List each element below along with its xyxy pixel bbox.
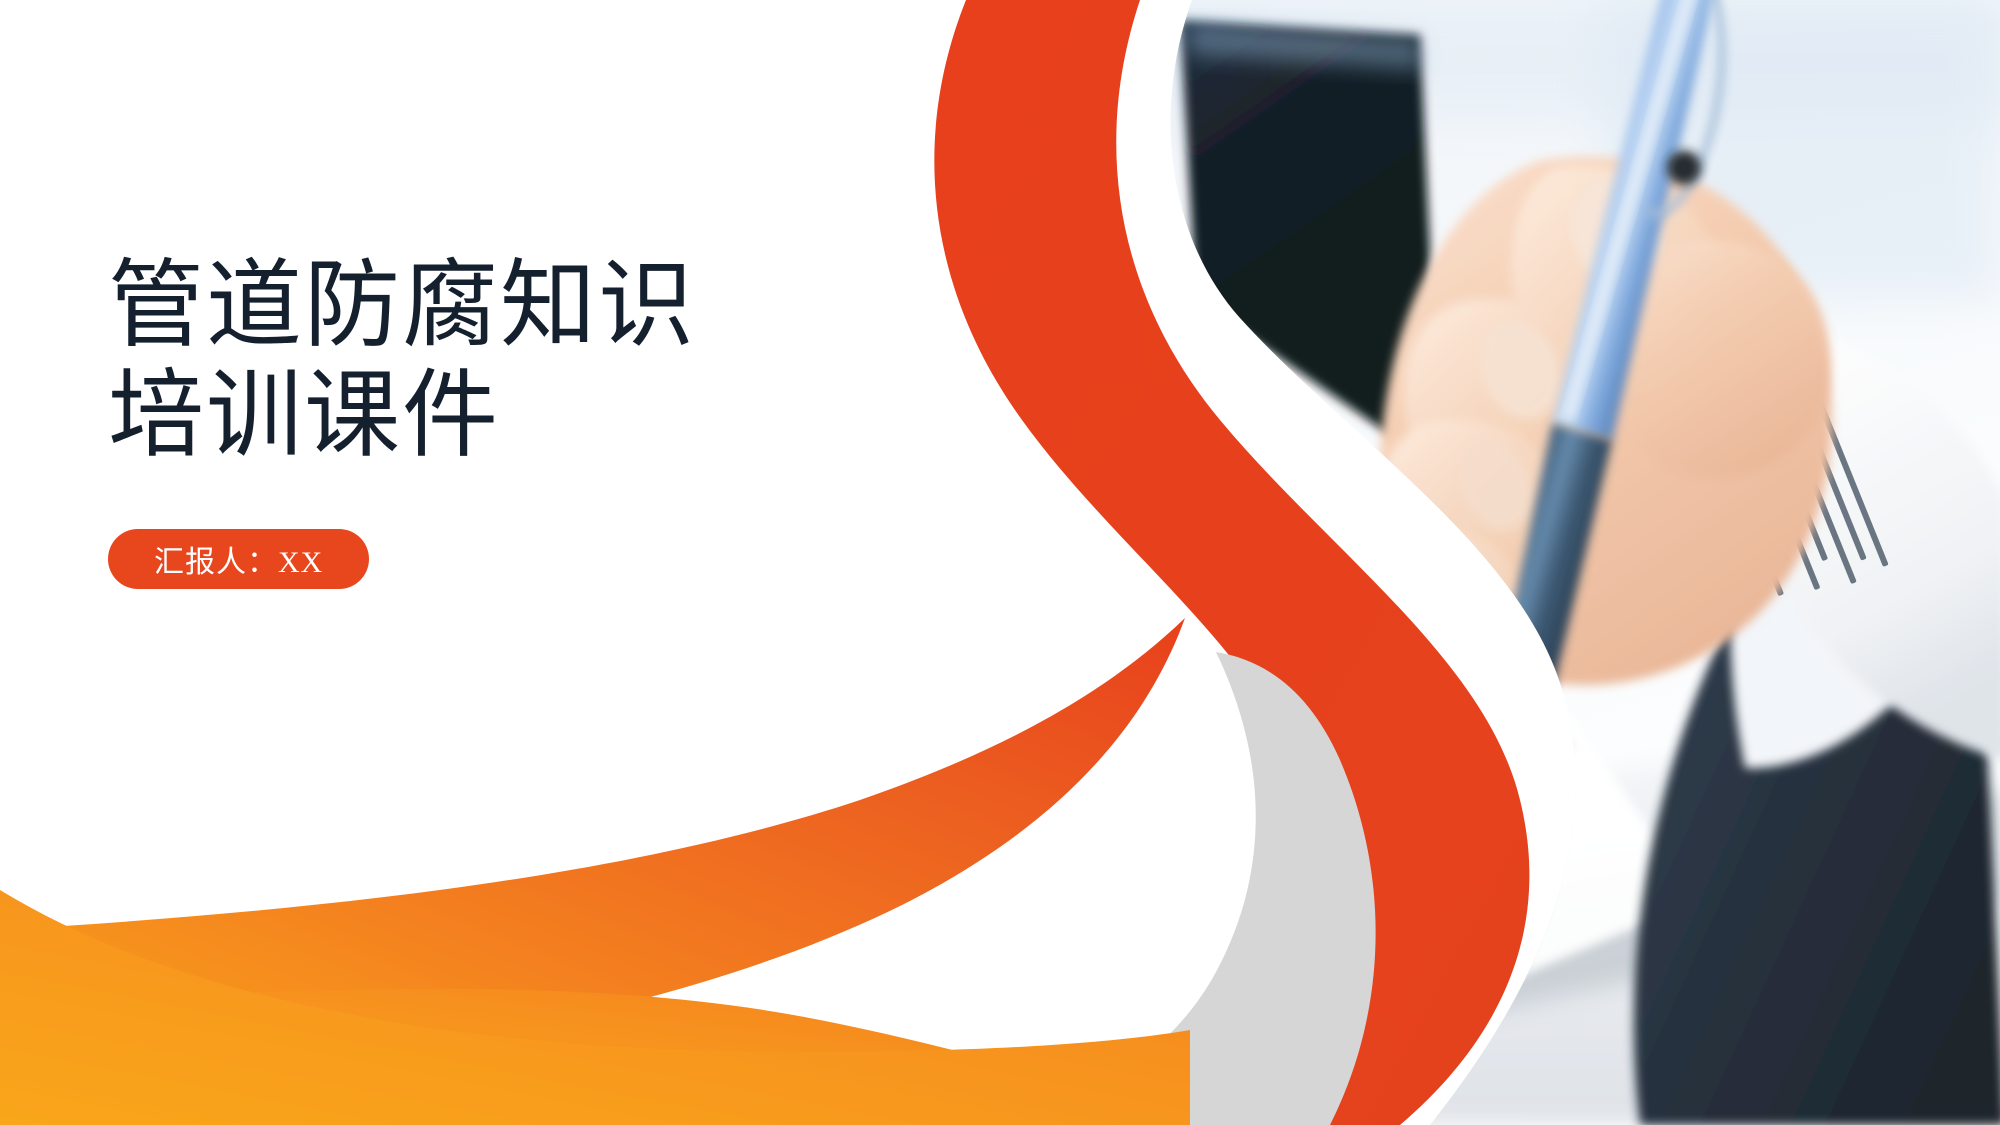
page-title-line-1: 管道防腐知识: [108, 252, 868, 360]
title-block: 管道防腐知识 培训课件 汇报人：XX: [108, 252, 868, 589]
presenter-badge: 汇报人：XX: [108, 529, 369, 589]
page-title-line-2: 培训课件: [108, 362, 868, 470]
title-slide: 管道防腐知识 培训课件 汇报人：XX: [0, 0, 2000, 1125]
